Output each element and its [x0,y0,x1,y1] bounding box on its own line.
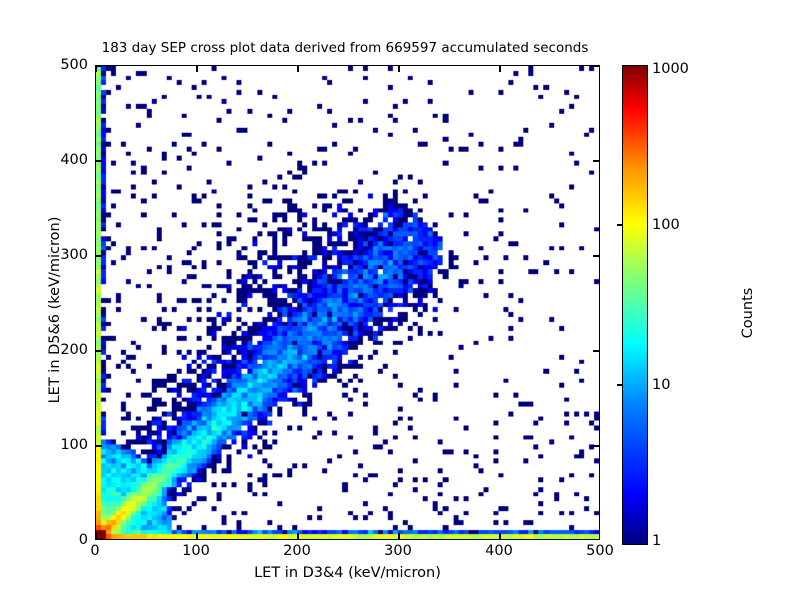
y-tick [96,350,102,351]
colorbar-title: Counts [740,213,756,413]
colorbar-tick-label: 10 [652,377,670,393]
x-tick-label: 200 [283,543,311,559]
x-tick [499,533,500,539]
figure-canvas: 183 day SEP cross plot data derived from… [0,0,800,600]
colorbar-gradient [622,65,648,545]
y-tick [593,255,599,256]
y-tick [96,160,102,161]
x-tick [196,533,197,539]
x-tick-label: 100 [182,543,210,559]
x-tick-label: 300 [384,543,412,559]
colorbar-tick-label: 1 [652,533,661,549]
y-tick [96,445,102,446]
colorbar-tick [617,384,622,385]
x-tick [297,533,298,539]
y-tick [96,255,102,256]
y-tick-label: 0 [79,532,88,548]
colorbar-tick-label: 1000 [652,61,689,77]
x-tick [95,66,96,72]
x-tick [95,533,96,539]
title-line-1: 183 day SEP cross plot data derived from… [0,40,690,57]
y-tick-label: 200 [60,342,88,358]
plot-axes [95,65,600,540]
y-tick-label: 500 [60,57,88,73]
x-tick-label: 400 [485,543,513,559]
x-tick-label: 0 [90,543,99,559]
x-tick [499,66,500,72]
colorbar-tick-label: 100 [652,217,680,233]
y-tick [96,65,102,66]
x-tick [398,533,399,539]
colorbar-tick [617,224,622,225]
y-tick-label: 300 [60,247,88,263]
y-tick [593,65,599,66]
x-tick [196,66,197,72]
x-tick [398,66,399,72]
y-tick-label: 100 [60,437,88,453]
x-tick [297,66,298,72]
y-tick-label: 400 [60,152,88,168]
y-tick [593,350,599,351]
x-axis-label: LET in D3&4 (keV/micron) [95,565,600,581]
y-tick [593,160,599,161]
scatter-density-plot [96,66,599,539]
y-axis-label: LET in D5&6 (keV/micron) [47,110,63,510]
x-tick-label: 500 [586,543,614,559]
y-tick [593,445,599,446]
colorbar: 1101001000 [622,65,648,545]
